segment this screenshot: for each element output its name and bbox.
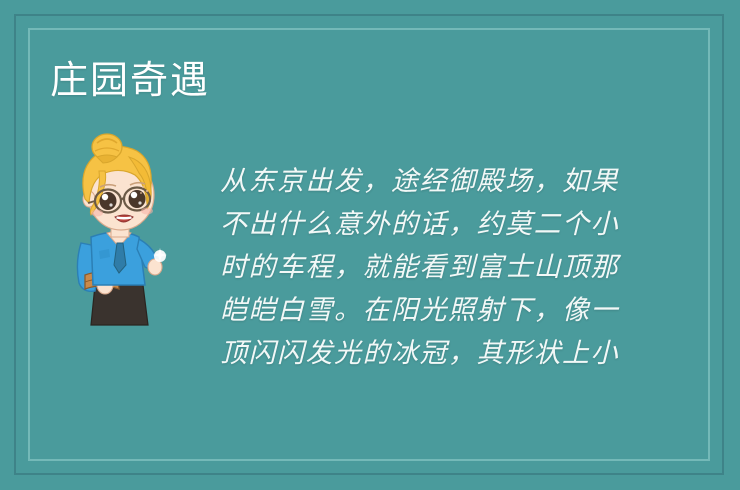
body-line: 顶闪闪发光的冰冠，其形状上小 [220,332,630,375]
body-line: 从东京出发，途经御殿场，如果 [220,160,630,203]
body-line: 时的车程，就能看到富士山顶那 [220,246,630,289]
cartoon-girl-illustration [55,133,185,328]
page-title: 庄园奇遇 [50,58,210,104]
body-line: 不出什么意外的话，约莫二个小 [220,203,630,246]
slide-canvas: 庄园奇遇 从东京出发，途经御殿场，如果 不出什么意外的话，约莫二个小 时的车程，… [0,0,740,490]
body-paragraph: 从东京出发，途经御殿场，如果 不出什么意外的话，约莫二个小 时的车程，就能看到富… [220,160,630,375]
body-line: 皑皑白雪。在阳光照射下，像一 [220,289,630,332]
